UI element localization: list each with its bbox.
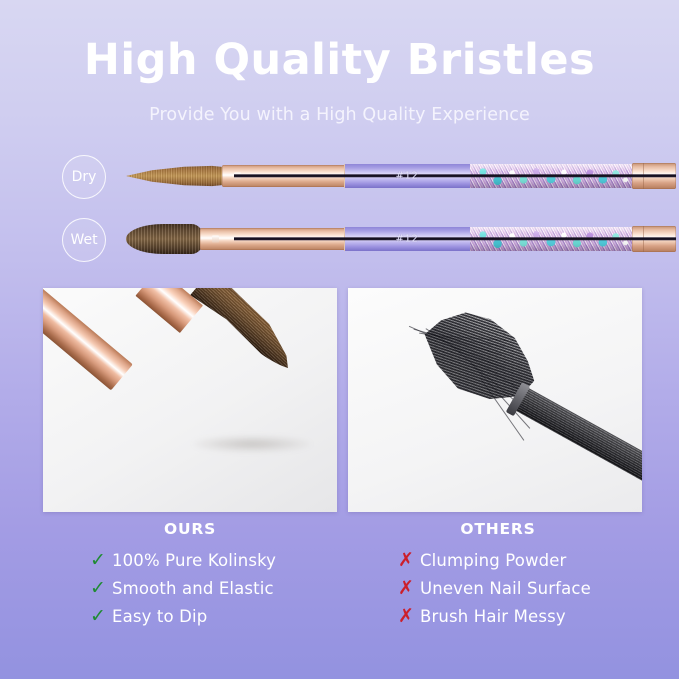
brush-wet: #12 (126, 216, 654, 262)
handle-size-label: #12 (396, 171, 419, 182)
badge-wet-label: Wet (70, 232, 97, 248)
photo-others (348, 288, 642, 512)
glitter-barrel-icon (470, 227, 632, 251)
glitter-barrel-icon (470, 164, 632, 188)
comparison-column-others: OTHERS ✗ Clumping Powder ✗ Uneven Nail S… (348, 520, 648, 630)
endcap-seam (643, 226, 644, 252)
check-icon: ✓ (90, 579, 112, 598)
list-item-label: 100% Pure Kolinsky (112, 551, 276, 570)
endcap-seam (643, 163, 644, 189)
photo-background (43, 288, 337, 512)
product-feature-poster: High Quality Bristles Provide You with a… (0, 0, 679, 679)
cross-icon: ✗ (398, 579, 420, 598)
rose-gold-ferrule-icon (200, 228, 346, 250)
list-item-label: Easy to Dip (112, 607, 207, 626)
badge-wet: Wet (62, 218, 106, 262)
page-title: High Quality Bristles (0, 38, 679, 83)
list-item: ✓ 100% Pure Kolinsky (40, 546, 340, 574)
badge-dry-label: Dry (72, 169, 97, 185)
comparison-heading-ours: OURS (40, 520, 340, 538)
comparison-column-ours: OURS ✓ 100% Pure Kolinsky ✓ Smooth and E… (40, 520, 340, 630)
list-item-label: Clumping Powder (420, 551, 566, 570)
list-item: ✗ Clumping Powder (348, 546, 648, 574)
list-item: ✓ Easy to Dip (40, 602, 340, 630)
cross-icon: ✗ (398, 607, 420, 626)
list-item-label: Uneven Nail Surface (420, 579, 591, 598)
page-subtitle: Provide You with a High Quality Experien… (0, 105, 679, 125)
list-item-label: Smooth and Elastic (112, 579, 274, 598)
list-item: ✓ Smooth and Elastic (40, 574, 340, 602)
rose-gold-ferrule-icon (222, 165, 346, 187)
pointed-bristle-icon (126, 165, 226, 187)
rose-gold-endcap-icon (632, 163, 676, 189)
badge-dry: Dry (62, 155, 106, 199)
ferrule-notch-icon (234, 173, 241, 180)
list-item-label: Brush Hair Messy (420, 607, 566, 626)
brush-shadow (193, 436, 311, 452)
brush-dry: #12 (126, 153, 654, 199)
list-item: ✗ Uneven Nail Surface (348, 574, 648, 602)
rose-gold-endcap-icon (632, 226, 676, 252)
comparison-heading-others: OTHERS (348, 520, 648, 538)
check-icon: ✓ (90, 551, 112, 570)
ferrule-notch-icon (212, 236, 219, 243)
photo-ours (43, 288, 337, 512)
rounded-bristle-icon (126, 224, 204, 254)
list-item: ✗ Brush Hair Messy (348, 602, 648, 630)
handle-size-label: #12 (396, 234, 419, 245)
cross-icon: ✗ (398, 551, 420, 570)
check-icon: ✓ (90, 607, 112, 626)
